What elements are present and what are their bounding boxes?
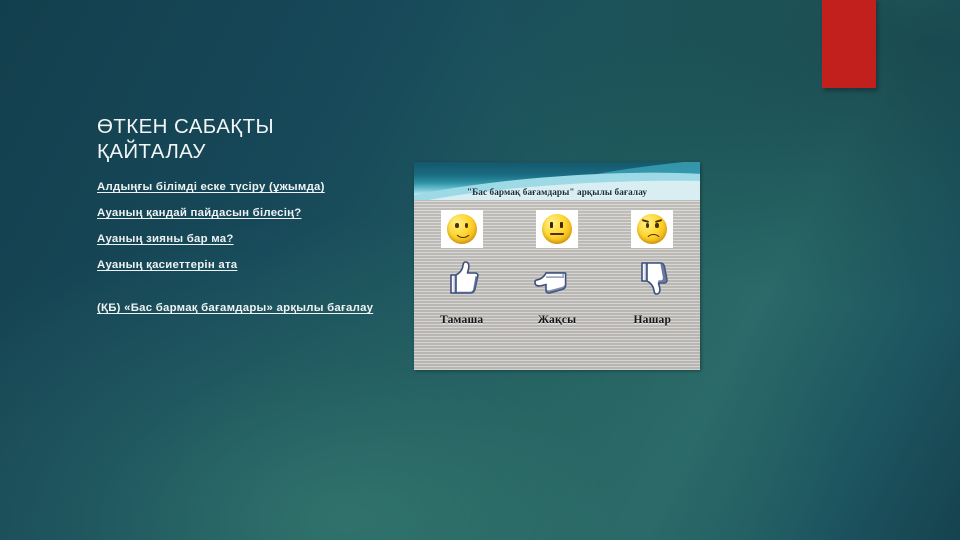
eye-right [655,223,658,228]
text-content-column: ӨТКЕН САБАҚТЫ ҚАЙТАЛАУ Алдыңғы білімді е… [97,114,387,327]
body-paragraph-1: Алдыңғы білімді еске түсіру (ұжымда) [97,180,387,195]
face-tile [536,210,578,248]
rating-label-good: Жақсы [538,314,577,326]
thumbs-sideways-icon [534,256,580,300]
presentation-slide: ӨТКЕН САБАҚТЫ ҚАЙТАЛАУ Алдыңғы білімді е… [0,0,960,540]
rating-label-poor: Нашар [634,314,672,326]
smiley-happy-icon [447,214,477,244]
eye-left [646,223,649,228]
thumbs-up-icon [441,256,483,300]
eye-right [560,222,563,228]
panel-header-title: "Бас бармақ бағамдары" арқылы бағалау [414,162,700,200]
body-paragraph-3: Ауаның зияны бар ма? [97,232,387,247]
rating-column-poor: Нашар [605,210,700,326]
rating-grid: Тамаша [414,210,700,326]
brow-left [642,219,649,223]
assessment-image-panel: "Бас бармақ бағамдары" арқылы бағалау [414,162,700,370]
mouth-frown [645,234,662,244]
eye-left [550,222,553,228]
rating-label-excellent: Тамаша [440,314,483,326]
page-title: ӨТКЕН САБАҚТЫ ҚАЙТАЛАУ [97,114,387,164]
smiley-sad-icon [637,214,667,244]
thumbs-down-icon [631,256,673,300]
rating-column-excellent: Тамаша [414,210,509,326]
face-tile [631,210,673,248]
rating-column-good: Жақсы [509,210,604,326]
body-paragraph-2: Ауаның қандай пайдасын білесің? [97,206,387,221]
body-paragraph-closing: (ҚБ) «Бас бармақ бағамдары» арқылы бағал… [97,301,387,316]
red-accent-block [822,0,876,88]
body-paragraph-4: Ауаның қасиеттерін ата [97,258,387,273]
mouth-smile [454,227,472,238]
smiley-neutral-icon [542,214,572,244]
mouth-flat [550,233,564,235]
face-tile [441,210,483,248]
